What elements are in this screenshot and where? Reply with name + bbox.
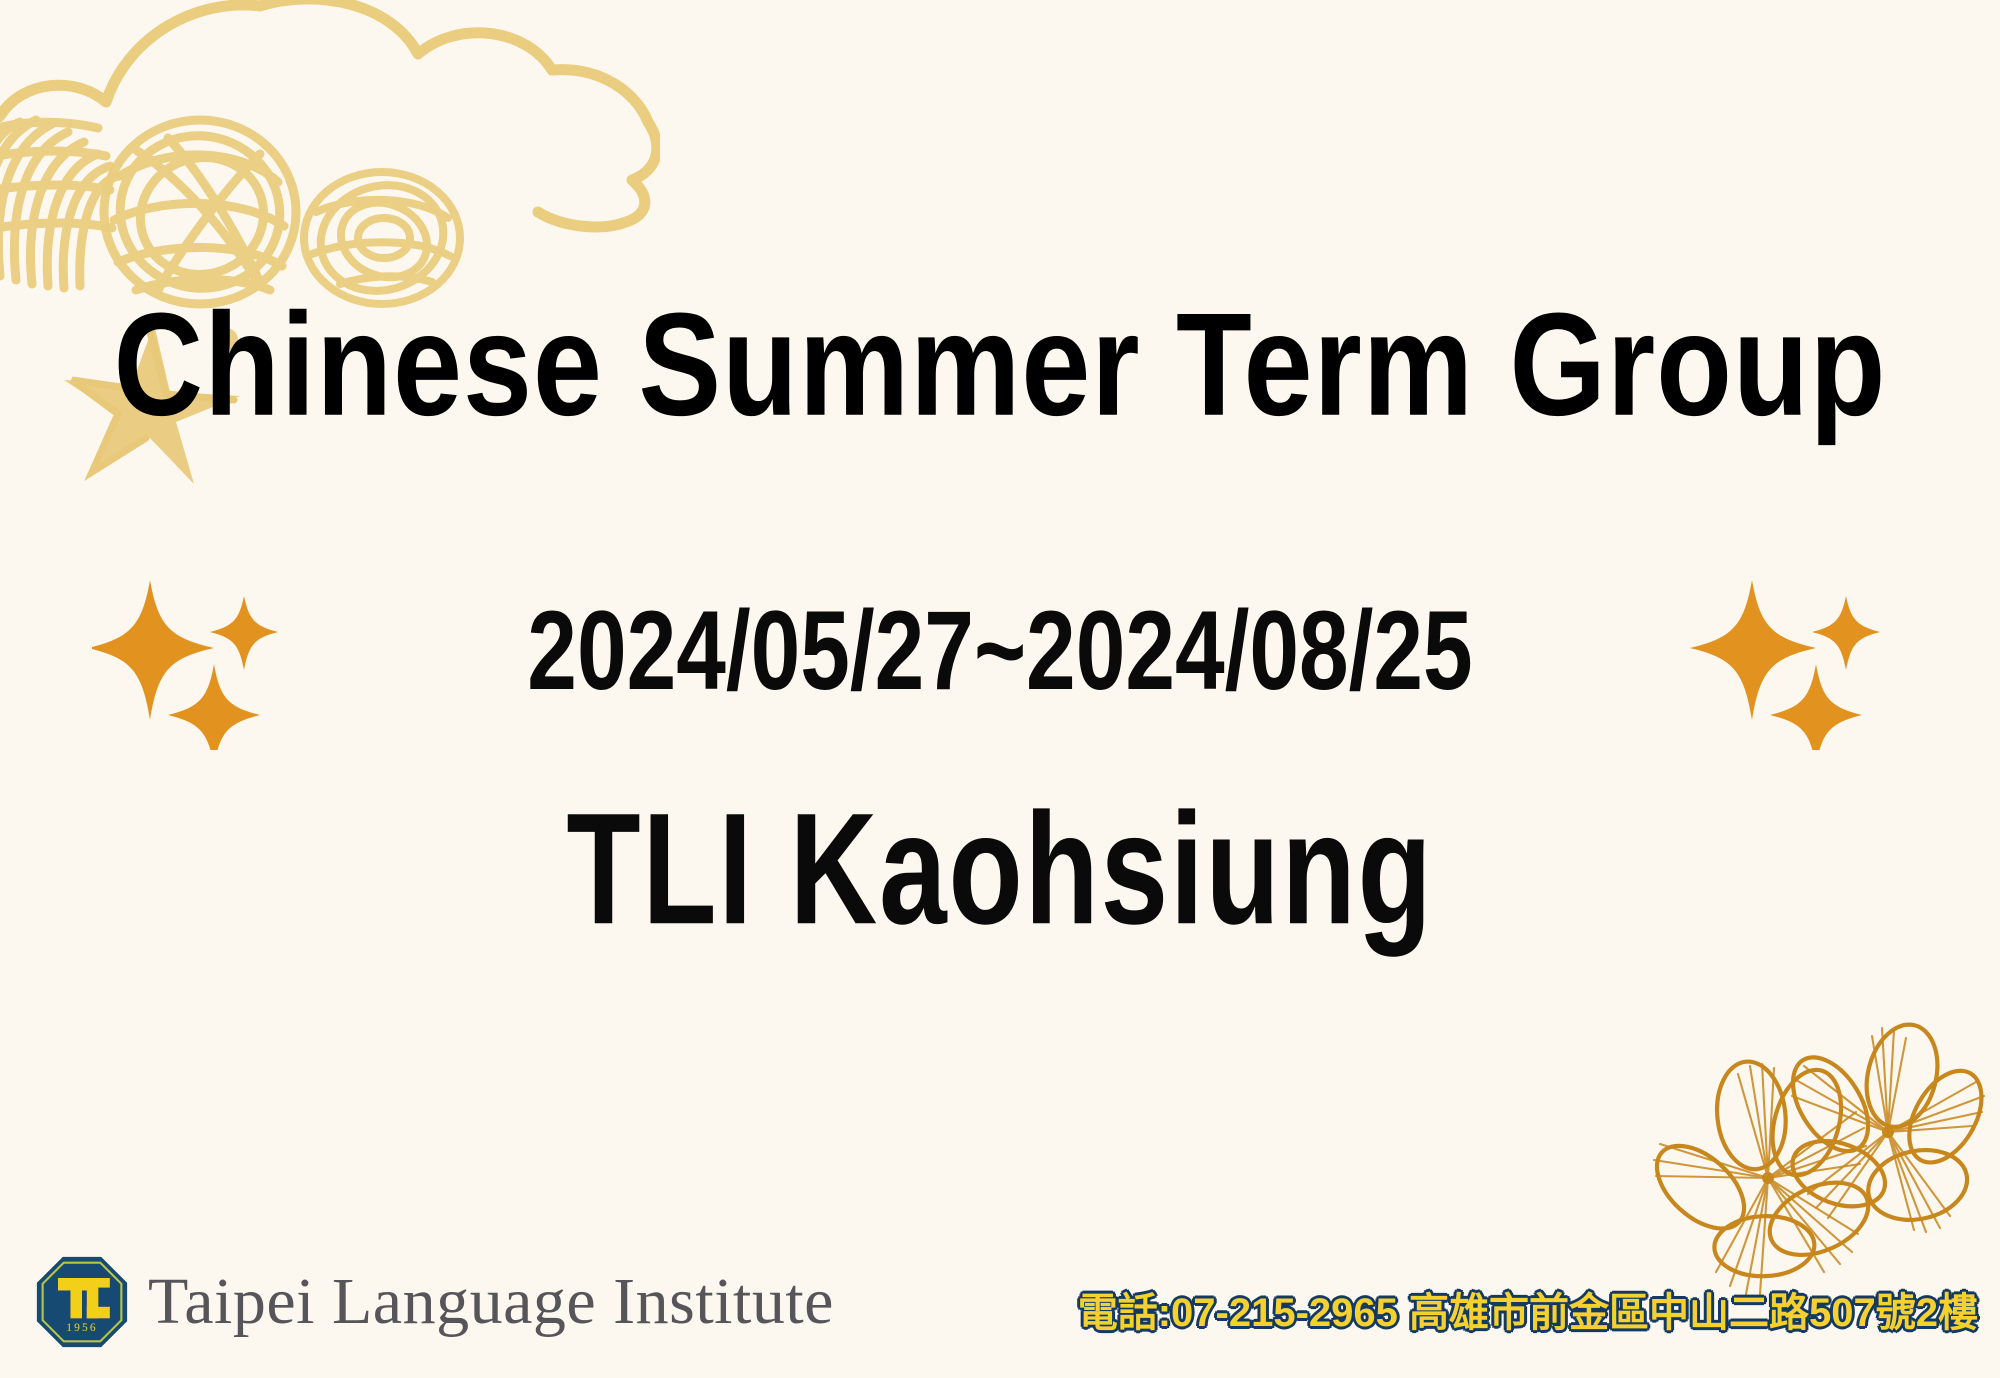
footer-bar: 1956 Taipei Language Institute 電話:07-215… (0, 1240, 2000, 1360)
term-date-range: 2024/05/27~2024/08/25 (30, 595, 1970, 707)
contact-info: 電話:07-215-2965 高雄市前金區中山二路507號2樓 (1078, 1280, 1978, 1338)
cloud-decoration-icon (0, 0, 660, 330)
tli-logo-icon: 1956 (34, 1254, 130, 1350)
svg-text:1956: 1956 (66, 1322, 97, 1334)
brand-wordmark: Taipei Language Institute (148, 1269, 834, 1335)
page-title: Chinese Summer Term Group (0, 292, 2000, 438)
brand-lockup: 1956 Taipei Language Institute (34, 1254, 834, 1350)
poster-canvas: Chinese Summer Term Group 2024/05/27~202… (0, 0, 2000, 1378)
campus-name: TLI Kaohsiung (80, 790, 1920, 948)
